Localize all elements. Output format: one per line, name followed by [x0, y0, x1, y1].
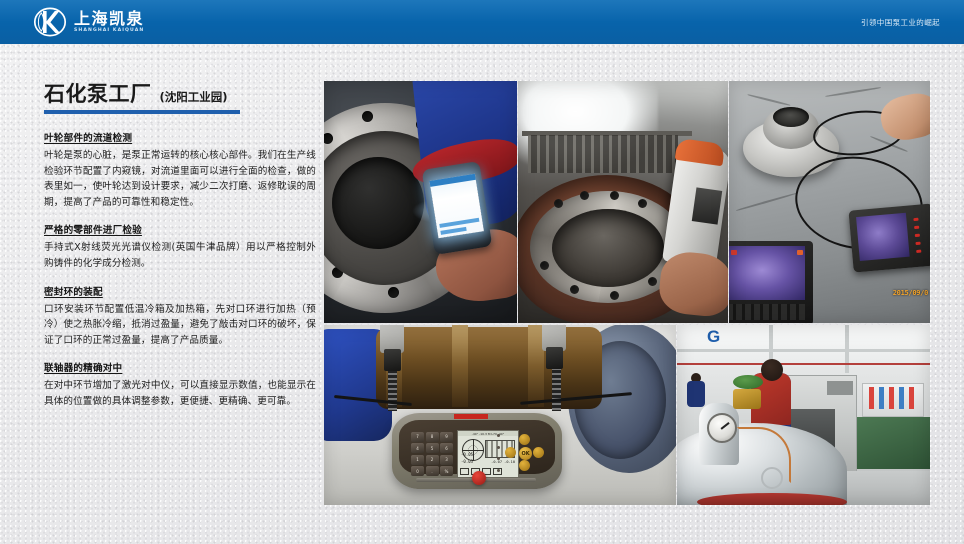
xrf-analyzer-display: [692, 187, 722, 224]
casing-bolt: [554, 199, 563, 208]
sensor-body: [384, 349, 401, 371]
flange-bolt: [388, 287, 399, 298]
title-underline-rule: [44, 110, 240, 114]
section-heading: 叶轮部件的流道检测: [44, 131, 316, 146]
tool-brand-strip: [454, 414, 488, 419]
section-heading: 密封环的装配: [44, 285, 316, 300]
keypad-key[interactable]: 4: [411, 443, 424, 453]
led: [915, 241, 920, 244]
section-heading: 联轴器的精确对中: [44, 361, 316, 376]
page-subtitle: (沈阳工业园): [160, 89, 228, 105]
shelf-item: [879, 387, 884, 409]
section-seal-ring-assembly: 密封环的装配 口环安装环节配置低温冷箱及加热箱，先对口环进行加热（预冷）使之热胀…: [44, 285, 316, 349]
logo-wordmark: 上海凯泉 SHANGHAI KAIQUAN: [74, 10, 144, 34]
keypad-key[interactable]: 6: [440, 443, 453, 453]
tool-numeric-keypad[interactable]: 7 8 9 4 5 6 1 2 3 0 . %: [411, 432, 453, 476]
casing-bolt: [580, 191, 589, 200]
ceiling-column: [845, 325, 849, 373]
monitor-indicator-leds: [913, 214, 930, 255]
keypad-key[interactable]: 1: [411, 455, 424, 465]
nav-up-button[interactable]: [519, 434, 530, 445]
lcd-readout-primary: -0.05 -0.03: [461, 452, 495, 465]
tool-navigation-pad[interactable]: OK: [505, 434, 545, 472]
laser-alignment-tool[interactable]: 7 8 9 4 5 6 1 2 3 0 . %: [392, 413, 562, 489]
shelf-item: [909, 387, 914, 409]
nav-down-button[interactable]: [519, 460, 530, 471]
keypad-key[interactable]: 0: [411, 466, 424, 476]
screen-badge: [731, 250, 737, 255]
borescope-monitor-screen: [856, 213, 910, 261]
section-impeller-inspection: 叶轮部件的流道检测 叶轮是泵的心脏，是泵正常运转的核心核心部件。我们在生产线检验…: [44, 131, 316, 210]
overhead-pipe: [677, 363, 930, 365]
title-row: 石化泵工厂 (沈阳工业园): [44, 82, 316, 106]
casing-bolt: [648, 277, 657, 286]
endoscope-row: [440, 227, 466, 235]
status-dot: [497, 457, 500, 460]
section-body: 手持式X射线荧光光谱仪检测(英国牛津品牌）用以严格控制外购铸件的化学成分检测。: [44, 240, 316, 271]
collage-row-bottom: 7 8 9 4 5 6 1 2 3 0 . %: [324, 325, 930, 505]
page-title: 石化泵工厂: [44, 82, 152, 106]
screen-badge: [797, 250, 803, 255]
led: [914, 225, 919, 228]
keypad-key[interactable]: 9: [440, 432, 453, 442]
casing-bolt: [540, 261, 549, 270]
led: [916, 249, 921, 252]
brass-valve: [733, 389, 761, 409]
photo-cryogenic-and-heating-station: G: [677, 325, 930, 505]
tool-faceplate: 7 8 9 4 5 6 1 2 3 0 . %: [399, 420, 555, 474]
oven-control-panel: [827, 381, 853, 395]
flange-bolt: [362, 111, 373, 122]
collage-row-top: 2015/09/0: [324, 81, 930, 323]
secondary-borescope-monitor: [729, 241, 813, 323]
impeller-eye: [773, 107, 809, 127]
logo-chinese-name: 上海凯泉: [74, 10, 144, 27]
keypad-key[interactable]: 7: [411, 432, 424, 442]
sensor-body: [546, 347, 563, 369]
keypad-key[interactable]: 5: [426, 443, 439, 453]
header-tagline: 引领中国泵工业的崛起: [861, 0, 940, 44]
text-column: 石化泵工厂 (沈阳工业园) 叶轮部件的流道检测 叶轮是泵的心脏，是泵正常运转的核…: [44, 82, 316, 423]
keypad-key[interactable]: .: [426, 466, 439, 476]
nav-ok-button[interactable]: OK: [519, 447, 532, 460]
background-worker: [687, 381, 705, 407]
casing-bore: [552, 209, 664, 287]
section-body: 口环安装环节配置低温冷箱及加热箱，先对口环进行加热（预冷）使之热胀冷缩，抵消过盈…: [44, 302, 316, 349]
keypad-key[interactable]: 3: [440, 455, 453, 465]
led: [915, 233, 920, 236]
shelf-item: [869, 387, 874, 409]
section-heading: 严格的零部件进厂检验: [44, 223, 316, 238]
borescope-monitor: [848, 203, 930, 272]
company-logo[interactable]: 上海凯泉 SHANGHAI KAIQUAN: [33, 6, 144, 38]
keypad-key[interactable]: %: [440, 466, 453, 476]
green-workbench: [850, 417, 930, 469]
status-dot: [497, 446, 500, 449]
photo-xrf-spectrometer-inspection: [518, 81, 728, 323]
status-dot: [497, 469, 500, 472]
nav-left-button[interactable]: [505, 447, 516, 458]
lcd-value: -0.03: [461, 459, 495, 466]
keypad-key[interactable]: 8: [426, 432, 439, 442]
lcd-icon: [460, 468, 469, 475]
endoscope-screen: [429, 174, 484, 238]
photo-laser-shaft-alignment: 7 8 9 4 5 6 1 2 3 0 . %: [324, 325, 676, 505]
casing-bolt: [570, 285, 579, 294]
lid-ring-handle: [761, 467, 783, 489]
endoscope-row: [439, 218, 479, 228]
secondary-monitor-screen: [729, 246, 805, 300]
section-body: 在对中环节增加了激光对中仪，可以直接显示数值，也能显示在具体的位置做的具体调整参…: [44, 378, 316, 409]
header-bar: 上海凯泉 SHANGHAI KAIQUAN 引领中国泵工业的崛起: [0, 0, 964, 44]
workshop-rack: [528, 135, 678, 173]
kaiquan-k-emblem-icon: [33, 7, 67, 37]
flange-bore: [332, 157, 424, 249]
keypad-key[interactable]: 2: [426, 455, 439, 465]
monitor-keypad: [729, 304, 805, 320]
ceiling-beam: [677, 349, 930, 352]
photo-timestamp-overlay: 2015/09/0: [893, 289, 928, 297]
led: [913, 217, 918, 220]
casing-bolt: [610, 291, 619, 300]
hall-sign-g: G: [707, 327, 720, 347]
shelf-item: [899, 387, 904, 409]
logo-english-name: SHANGHAI KAIQUAN: [74, 27, 144, 34]
header-sheen: [0, 0, 964, 22]
status-dot: [497, 434, 500, 437]
shelf-item: [889, 387, 894, 409]
nav-right-button[interactable]: [533, 447, 544, 458]
casing-bolt: [610, 191, 619, 200]
power-button[interactable]: [472, 471, 486, 485]
foreground-worker-head: [761, 359, 783, 381]
coupling-band: [452, 325, 468, 407]
slide-root: 上海凯泉 SHANGHAI KAIQUAN 引领中国泵工业的崛起 石化泵工厂 (…: [0, 0, 964, 544]
endoscope-titlebar: [429, 174, 475, 187]
photo-borescope-impeller-inspection: 2015/09/0: [729, 81, 930, 323]
section-incoming-inspection: 严格的零部件进厂检验 手持式X射线荧光光谱仪检测(英国牛津品牌）用以严格控制外购…: [44, 223, 316, 271]
section-coupling-alignment: 联轴器的精确对中 在对中环节增加了激光对中仪，可以直接显示数值，也能显示在具体的…: [44, 361, 316, 409]
tool-status-dots: [497, 434, 501, 472]
casing-bolt: [638, 199, 647, 208]
photo-impeller-flowpath-inspection: [324, 81, 517, 323]
photo-collage: 2015/09/0: [324, 81, 930, 505]
section-body: 叶轮是泵的心脏，是泵正常运转的核心核心部件。我们在生产线检验环节配置了内窥镜，对…: [44, 148, 316, 210]
cold-box-base-band: [697, 493, 847, 505]
potted-plant: [733, 375, 763, 389]
